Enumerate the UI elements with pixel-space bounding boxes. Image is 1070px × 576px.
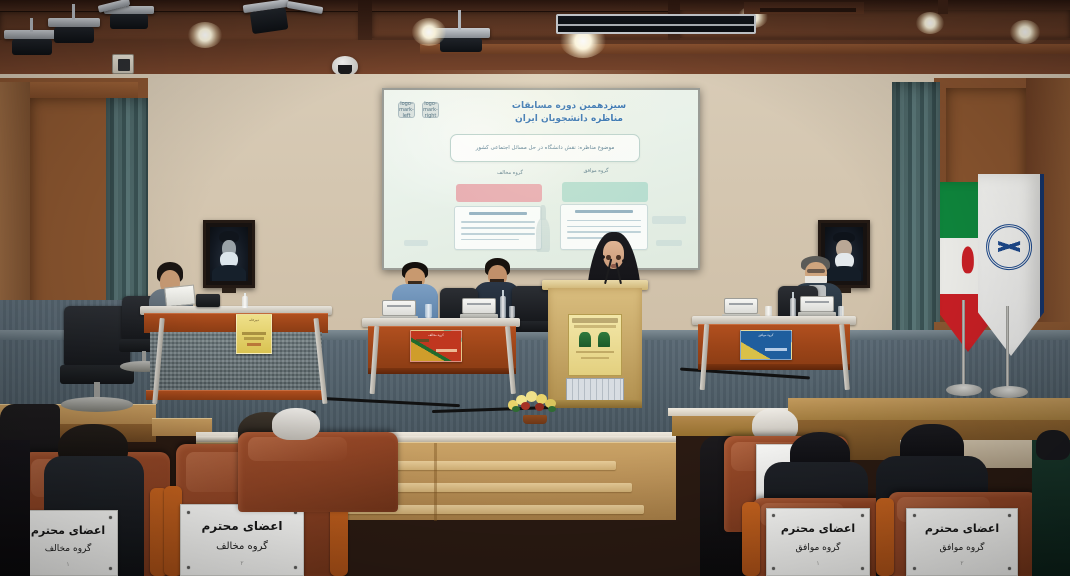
- ceiling-light-mid: [412, 18, 446, 46]
- desk-left-long-base-rail: [146, 390, 326, 400]
- slide-hand-graphic-icon: [536, 218, 550, 252]
- ceiling-light-right-2: [916, 12, 944, 34]
- audience-member-edge-right: [1032, 440, 1070, 576]
- slide-band-left: [456, 184, 542, 202]
- audience-plate-4: اعضای محترم گروه موافق ۲: [906, 508, 1018, 576]
- laptop-center-2[interactable]: [462, 298, 496, 320]
- podium-poster: [568, 314, 622, 376]
- water-bottle-right: [790, 298, 796, 318]
- spotlight-2[interactable]: [48, 18, 100, 27]
- slide-logo-right-icon: logo-mark-right: [422, 102, 439, 118]
- portrait-left-mount: [222, 288, 236, 293]
- ceiling-rail: [760, 8, 856, 12]
- chair-arm-right-2: [876, 498, 894, 576]
- ceiling-light-right-3: [1010, 20, 1040, 44]
- slide-card-left-heading: [469, 212, 528, 215]
- ceiling-light-left: [188, 22, 222, 48]
- banner-secretariat: دبیرخانه: [236, 314, 272, 354]
- flag-institution-pole: [1006, 306, 1009, 394]
- slide-logo-left-mark: logo-mark-left: [399, 101, 414, 119]
- slide-question-box: موضوع مناظره: نقش دانشگاه در حل مسائل اج…: [450, 134, 640, 162]
- slide-band-right: [562, 182, 648, 202]
- audience-plate-1-line1: اعضای محترم: [19, 524, 117, 537]
- audience-head-left-3-white-hair: [272, 408, 320, 440]
- audience-plate-3: اعضای محترم گروه موافق ۱: [766, 508, 870, 576]
- banner-secretariat-label: دبیرخانه: [238, 318, 270, 323]
- slide-column-right-label: گروه موافق: [556, 168, 636, 174]
- slide-content: logo-mark-left logo-mark-right سیزدهمین …: [384, 90, 698, 268]
- ceiling-air-vent: [556, 14, 756, 34]
- audience-plate-4-line2: گروه موافق: [907, 543, 1017, 553]
- audience-head-edge-right: [1036, 430, 1070, 460]
- document-sheet-left: [164, 284, 196, 307]
- ceiling-mount: [938, 0, 948, 14]
- audience-plate-3-line1: اعضای محترم: [767, 522, 869, 535]
- laptop-right-2[interactable]: [800, 296, 834, 318]
- audience-plate-4-line1: اعضای محترم: [907, 522, 1017, 535]
- audience-plate-2: اعضای محترم گروه مخالف ۲: [180, 504, 304, 576]
- water-bottle-center: [500, 296, 506, 318]
- banner-proponent-label: گروه موافق: [743, 333, 790, 338]
- audience-plate-1: اعضای محترم گروه مخالف ۱: [18, 510, 118, 576]
- flag-iran-pole: [962, 300, 965, 392]
- slide-card-left: [454, 206, 542, 250]
- audience-plate-3-line3: ۱: [767, 560, 869, 567]
- desk-center-left-bottom-rail: [368, 368, 516, 374]
- wall-trim-left-top: [22, 82, 138, 98]
- water-bottle-left: [242, 296, 248, 308]
- audience-plate-1-line3: ۱: [19, 561, 117, 568]
- audience-member-edge-left: [0, 440, 30, 576]
- audience-plate-3-line2: گروه موافق: [767, 543, 869, 553]
- water-glass-center-1: [425, 304, 432, 318]
- audience-plate-1-line2: گروه مخالف: [19, 544, 117, 554]
- audience-chair-left-3[interactable]: [238, 432, 398, 512]
- chair-arm-right-1: [742, 502, 760, 576]
- flag-iran-base: [946, 384, 982, 396]
- spotlight-1[interactable]: [4, 30, 58, 39]
- banner-opposition-label: گروه مخالف: [413, 333, 460, 338]
- office-chair-center-2[interactable]: [512, 286, 550, 348]
- auditorium-photo: logo-mark-left logo-mark-right سیزدهمین …: [0, 0, 1070, 576]
- banner-opposition: گروه مخالف: [410, 330, 462, 362]
- audience-plate-4-line3: ۲: [907, 560, 1017, 567]
- audience-plate-2-line3: ۲: [181, 560, 303, 567]
- ceiling-access-panel: [112, 54, 134, 74]
- audience-plate-2-line1: اعضای محترم: [181, 519, 303, 533]
- slide-question-text: موضوع مناظره: نقش دانشگاه در حل مسائل اج…: [462, 144, 627, 152]
- slide-title-line1: سیزدهمین دوره مسابقات: [464, 100, 674, 112]
- slide-decor-2: [656, 240, 682, 246]
- microphone-head-2[interactable]: [622, 259, 627, 263]
- flower-arrangement: [506, 388, 564, 424]
- microphone-head-1[interactable]: [600, 255, 605, 259]
- ceiling: [0, 0, 1070, 78]
- ceiling-dome-camera: [332, 56, 358, 76]
- flag-institution-base: [990, 386, 1028, 398]
- projection-screen: logo-mark-left logo-mark-right سیزدهمین …: [382, 88, 700, 270]
- monitor-left-desk: [196, 294, 220, 307]
- ceiling-soffit-edge: [420, 44, 1070, 54]
- slide-decor-1: [652, 216, 686, 224]
- slide-decor-3: [404, 240, 428, 246]
- slide-title-line2: مناظره دانشجویان ایران: [464, 113, 674, 125]
- banner-proponent: گروه موافق: [740, 330, 792, 360]
- judge-glasses-icon: [807, 269, 825, 273]
- desk-right-bottom-rail: [698, 364, 850, 370]
- audience-plate-2-line2: گروه مخالف: [181, 541, 303, 552]
- slide-column-left-label: گروه مخالف: [470, 170, 550, 176]
- office-chair-left-1[interactable]: [64, 306, 130, 412]
- portrait-khomeini: [203, 220, 255, 288]
- slide-logo-left-icon: logo-mark-left: [398, 102, 415, 118]
- water-glass-center-2: [509, 306, 515, 318]
- slide-logo-right-mark: logo-mark-right: [423, 101, 438, 119]
- slide-card-right-heading: [575, 210, 634, 213]
